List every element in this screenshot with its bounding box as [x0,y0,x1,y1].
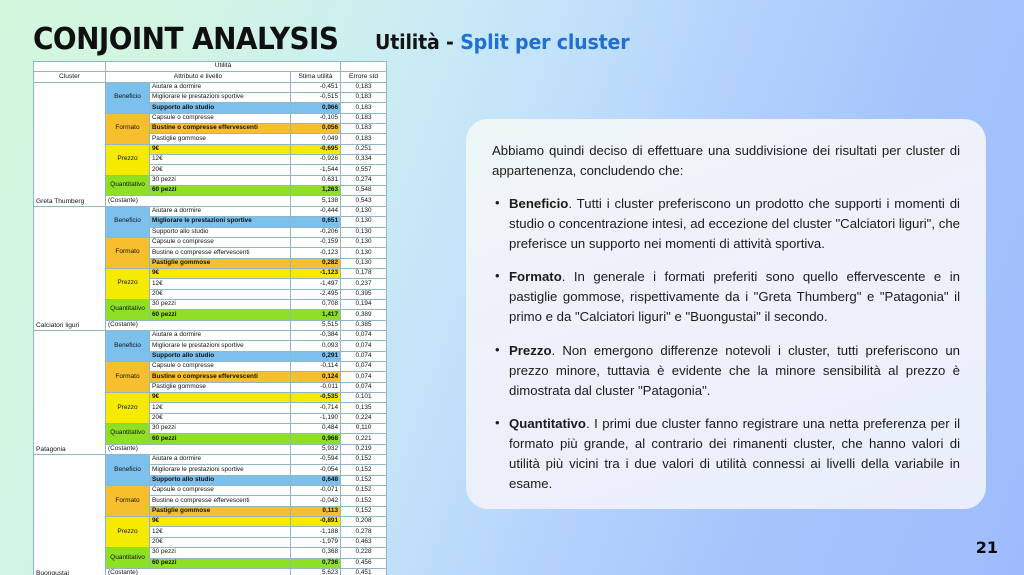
estimate-value: -0,695 [291,144,341,154]
level-label: 9€ [150,517,291,527]
level-label: 30 pezzi [150,175,291,185]
estimate-value: -0,926 [291,155,341,165]
table-header-row: ClusterAttributo e livelloStima utilitàE… [34,72,387,82]
estimate-value: -0,105 [291,113,341,123]
std-error-value: 0,237 [341,279,387,289]
conclusion-text: . In generale i formati preferiti sono q… [509,269,960,324]
estimate-value: -2,495 [291,289,341,299]
level-label: Aiutare a dormire [150,330,291,340]
constant-estimate: 5,932 [291,444,341,454]
std-error-value: 0,548 [341,186,387,196]
std-error-value: 0,183 [341,82,387,92]
estimate-value: -0,054 [291,465,341,475]
estimate-value: 0,966 [291,103,341,113]
std-error-value: 0,224 [341,413,387,423]
col-header-std-error: Errore std [341,72,387,82]
subtitle-accent: Split per cluster [461,30,630,54]
std-error-value: 0,183 [341,113,387,123]
estimate-value: -0,114 [291,361,341,371]
level-label: Capsule o compresse [150,113,291,123]
estimate-value: -0,891 [291,517,341,527]
estimate-value: -1,979 [291,537,341,547]
conclusion-item: Prezzo. Non emergono differenze notevoli… [492,341,960,401]
std-error-value: 0,074 [341,351,387,361]
estimate-value: 0,282 [291,258,341,268]
constant-std-error: 0,385 [341,320,387,330]
level-label: 60 pezzi [150,310,291,320]
constant-std-error: 0,543 [341,196,387,206]
estimate-value: 0,631 [291,175,341,185]
estimate-value: 0,968 [291,434,341,444]
subtitle-plain: Utilità [375,30,440,54]
col-header-cluster: Cluster [34,72,106,82]
estimate-value: -1,190 [291,413,341,423]
intro-paragraph: Abbiamo quindi deciso di effettuare una … [492,141,960,181]
level-label: Aiutare a dormire [150,455,291,465]
cluster-name: Calciatori liguri [34,206,106,330]
estimate-value: -0,444 [291,206,341,216]
estimate-value: -1,544 [291,165,341,175]
estimate-value: -1,123 [291,268,341,278]
constant-label: (Costante) [106,196,291,206]
attribute-label-quantitativo: Quantitativo [106,175,150,196]
conclusion-lead: Quantitativo [509,416,586,431]
table-row: Calciatori liguriBeneficioAiutare a dorm… [34,206,387,216]
estimate-value: 0,093 [291,341,341,351]
level-label: Migliorare le prestazioni sportive [150,465,291,475]
banner-blank-left [34,62,106,72]
attribute-label-quantitativo: Quantitativo [106,548,150,569]
level-label: Bustine o compresse effervescenti [150,124,291,134]
level-label: 9€ [150,268,291,278]
estimate-value: 1,417 [291,310,341,320]
slide-header: CONJOINT ANALYSIS Utilità - Split per cl… [33,22,643,57]
attribute-label-prezzo: Prezzo [106,268,150,299]
level-label: 60 pezzi [150,558,291,568]
table-row: Greta ThumbergBeneficioAiutare a dormire… [34,82,387,92]
table-banner-title: Utilità [106,62,341,72]
level-label: Pastiglie gommose [150,382,291,392]
level-label: 9€ [150,393,291,403]
estimate-value: -0,594 [291,455,341,465]
estimate-value: 0,124 [291,372,341,382]
level-label: 12€ [150,403,291,413]
estimate-value: 0,484 [291,424,341,434]
std-error-value: 0,130 [341,237,387,247]
table-row: BuongustaiBeneficioAiutare a dormire-0,5… [34,455,387,465]
level-label: 30 pezzi [150,299,291,309]
level-label: Bustine o compresse effervescenti [150,372,291,382]
page-title: CONJOINT ANALYSIS [33,22,338,57]
level-label: 9€ [150,144,291,154]
conclusion-item: Beneficio. Tutti i cluster preferiscono … [492,194,960,254]
std-error-value: 0,251 [341,144,387,154]
estimate-value: 0,368 [291,548,341,558]
estimate-value: -0,123 [291,248,341,258]
estimate-value: -0,206 [291,227,341,237]
estimate-value: 0,736 [291,558,341,568]
std-error-value: 0,130 [341,258,387,268]
level-label: Supporto allo studio [150,351,291,361]
std-error-value: 0,101 [341,393,387,403]
subtitle-dash: - [446,30,454,54]
cluster-name: Buongustai [34,455,106,575]
constant-estimate: 5,515 [291,320,341,330]
level-label: Aiutare a dormire [150,82,291,92]
level-label: Migliorare le prestazioni sportive [150,93,291,103]
attribute-label-formato: Formato [106,113,150,144]
constant-label: (Costante) [106,320,291,330]
std-error-value: 0,152 [341,496,387,506]
attribute-label-quantitativo: Quantitativo [106,424,150,445]
level-label: 12€ [150,279,291,289]
estimate-value: -0,535 [291,393,341,403]
estimate-value: 0,648 [291,475,341,485]
utility-table-panel: UtilitàClusterAttributo e livelloStima u… [33,61,386,575]
attribute-label-beneficio: Beneficio [106,82,150,113]
cluster-name: Greta Thumberg [34,82,106,206]
attribute-label-beneficio: Beneficio [106,455,150,486]
estimate-value: 0,113 [291,506,341,516]
level-label: Bustine o compresse effervescenti [150,248,291,258]
estimate-value: -0,451 [291,82,341,92]
table-row: PatagoniaBeneficioAiutare a dormire-0,38… [34,330,387,340]
std-error-value: 0,208 [341,517,387,527]
level-label: Pastiglie gommose [150,506,291,516]
std-error-value: 0,135 [341,403,387,413]
std-error-value: 0,152 [341,486,387,496]
banner-blank-right [341,62,387,72]
attribute-label-formato: Formato [106,237,150,268]
estimate-value: 1,263 [291,186,341,196]
std-error-value: 0,456 [341,558,387,568]
estimate-value: -0,515 [291,93,341,103]
conclusion-item: Formato. In generale i formati preferiti… [492,267,960,327]
std-error-value: 0,183 [341,134,387,144]
std-error-value: 0,274 [341,175,387,185]
level-label: Migliorare le prestazioni sportive [150,341,291,351]
std-error-value: 0,074 [341,372,387,382]
level-label: Pastiglie gommose [150,258,291,268]
conclusion-text: . Non emergono differenze notevoli i clu… [509,343,960,398]
estimate-value: 0,056 [291,124,341,134]
std-error-value: 0,074 [341,341,387,351]
estimate-value: 0,049 [291,134,341,144]
estimate-value: 0,291 [291,351,341,361]
level-label: Supporto allo studio [150,227,291,237]
cluster-name: Patagonia [34,330,106,454]
conclusion-lead: Formato [509,269,562,284]
table-banner-row: Utilità [34,62,387,72]
estimate-value: -0,011 [291,382,341,392]
attribute-label-beneficio: Beneficio [106,206,150,237]
std-error-value: 0,152 [341,465,387,475]
constant-std-error: 0,451 [341,568,387,575]
conclusion-item: Quantitativo. I primi due cluster fanno … [492,414,960,494]
level-label: Aiutare a dormire [150,206,291,216]
std-error-value: 0,178 [341,268,387,278]
std-error-value: 0,152 [341,506,387,516]
std-error-value: 0,130 [341,227,387,237]
constant-label: (Costante) [106,568,291,575]
level-label: Bustine o compresse effervescenti [150,496,291,506]
level-label: Capsule o compresse [150,486,291,496]
std-error-value: 0,221 [341,434,387,444]
std-error-value: 0,074 [341,361,387,371]
page-subtitle: Utilità - Split per cluster [375,30,629,54]
attribute-label-formato: Formato [106,486,150,517]
std-error-value: 0,074 [341,382,387,392]
std-error-value: 0,130 [341,248,387,258]
std-error-value: 0,183 [341,124,387,134]
constant-std-error: 0,219 [341,444,387,454]
constant-label: (Costante) [106,444,291,454]
conjoint-utility-table: UtilitàClusterAttributo e livelloStima u… [33,61,387,575]
conclusion-lead: Prezzo [509,343,552,358]
attribute-label-prezzo: Prezzo [106,393,150,424]
estimate-value: -0,071 [291,486,341,496]
std-error-value: 0,110 [341,424,387,434]
estimate-value: 0,651 [291,217,341,227]
level-label: 20€ [150,537,291,547]
level-label: 12€ [150,155,291,165]
col-header-attribute-level: Attributo e livello [106,72,291,82]
estimate-value: -0,042 [291,496,341,506]
level-label: Migliorare le prestazioni sportive [150,217,291,227]
std-error-value: 0,334 [341,155,387,165]
level-label: 20€ [150,413,291,423]
estimate-value: -0,159 [291,237,341,247]
std-error-value: 0,152 [341,455,387,465]
std-error-value: 0,389 [341,310,387,320]
std-error-value: 0,183 [341,103,387,113]
attribute-label-beneficio: Beneficio [106,330,150,361]
estimate-value: -0,384 [291,330,341,340]
level-label: 60 pezzi [150,434,291,444]
conclusions-list: Beneficio. Tutti i cluster preferiscono … [492,194,960,494]
conclusion-lead: Beneficio [509,196,568,211]
attribute-label-formato: Formato [106,361,150,392]
col-header-estimate: Stima utilità [291,72,341,82]
level-label: Supporto allo studio [150,103,291,113]
std-error-value: 0,130 [341,206,387,216]
attribute-label-prezzo: Prezzo [106,144,150,175]
conclusion-text: . Tutti i cluster preferiscono un prodot… [509,196,960,251]
level-label: 12€ [150,527,291,537]
std-error-value: 0,194 [341,299,387,309]
estimate-value: -1,188 [291,527,341,537]
std-error-value: 0,463 [341,537,387,547]
attribute-label-prezzo: Prezzo [106,517,150,548]
page-number: 21 [976,538,998,557]
level-label: Pastiglie gommose [150,134,291,144]
std-error-value: 0,228 [341,548,387,558]
level-label: Capsule o compresse [150,237,291,247]
std-error-value: 0,183 [341,93,387,103]
estimate-value: -0,714 [291,403,341,413]
level-label: 20€ [150,289,291,299]
level-label: 20€ [150,165,291,175]
std-error-value: 0,130 [341,217,387,227]
std-error-value: 0,074 [341,330,387,340]
level-label: Supporto allo studio [150,475,291,485]
constant-estimate: 5,623 [291,568,341,575]
std-error-value: 0,557 [341,165,387,175]
std-error-value: 0,152 [341,475,387,485]
level-label: 30 pezzi [150,424,291,434]
level-label: 30 pezzi [150,548,291,558]
level-label: Capsule o compresse [150,361,291,371]
level-label: 60 pezzi [150,186,291,196]
estimate-value: 0,708 [291,299,341,309]
estimate-value: -1,497 [291,279,341,289]
commentary-card: Abbiamo quindi deciso di effettuare una … [466,119,986,509]
constant-estimate: 5,138 [291,196,341,206]
std-error-value: 0,278 [341,527,387,537]
attribute-label-quantitativo: Quantitativo [106,299,150,320]
std-error-value: 0,395 [341,289,387,299]
